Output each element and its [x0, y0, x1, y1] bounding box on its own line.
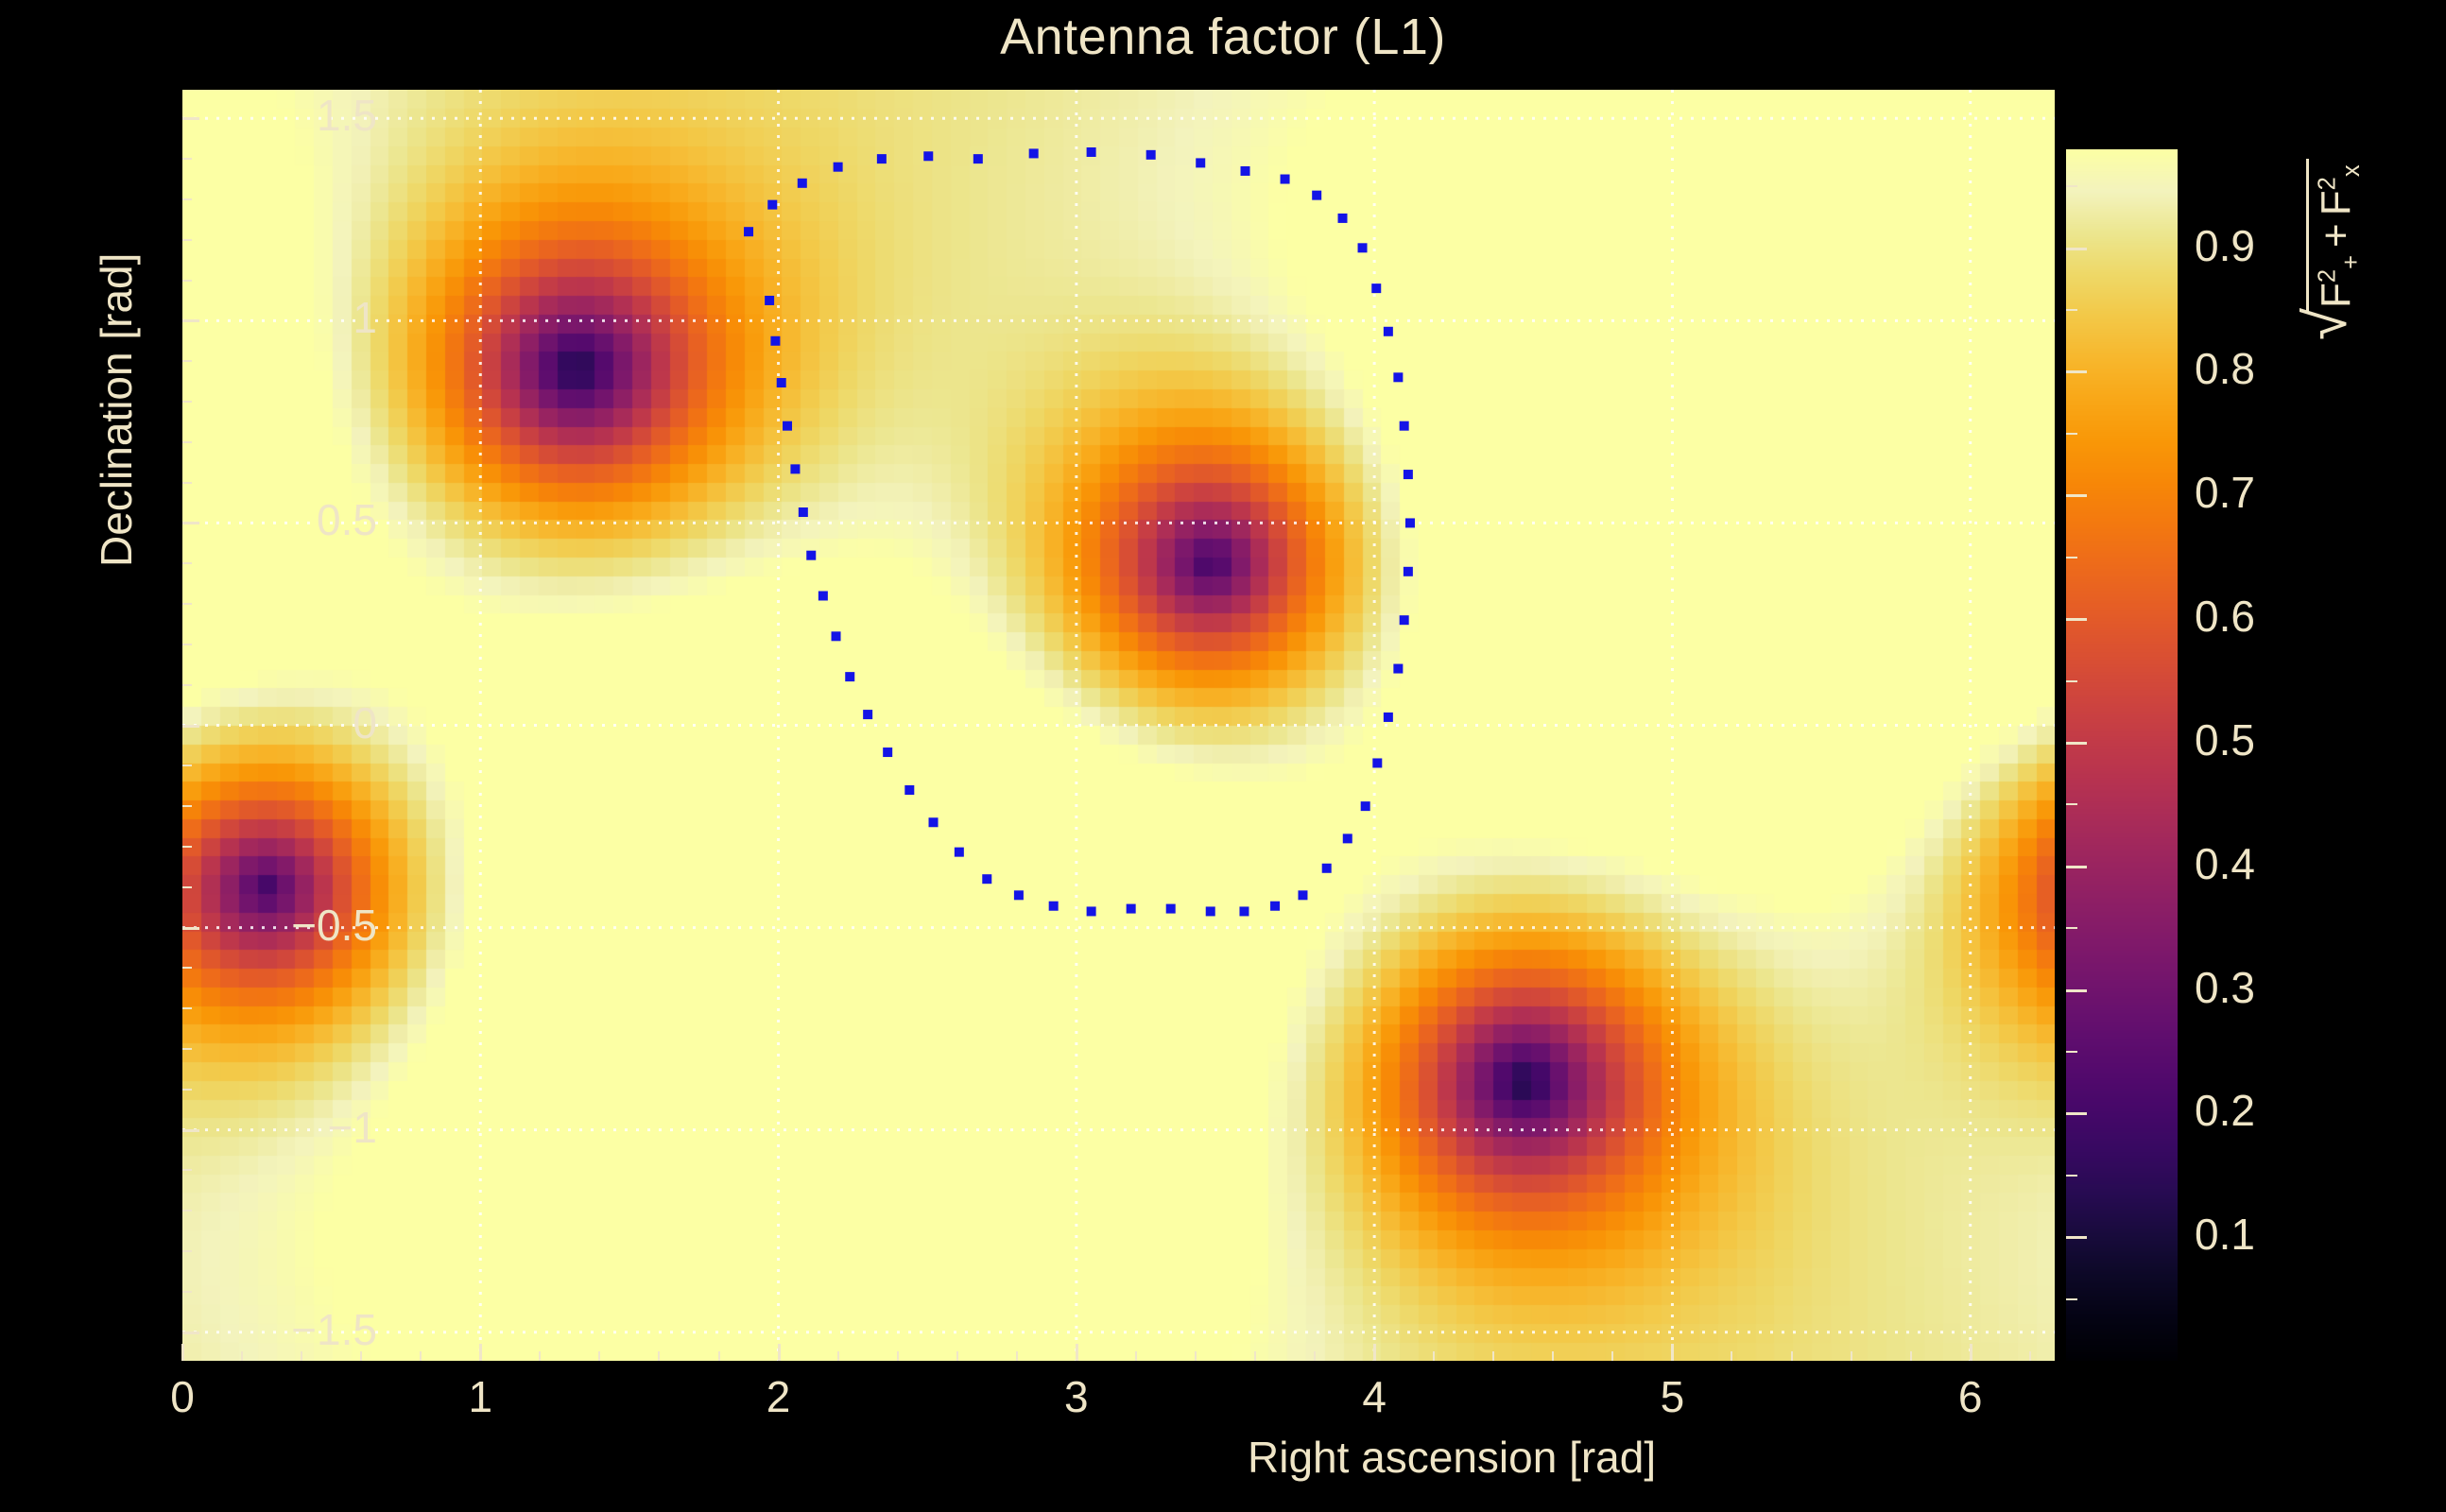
marker-point — [1298, 890, 1307, 900]
color-bar-tick-label: 0.5 — [2195, 718, 2255, 762]
color-bar-minor-tick — [2066, 1051, 2077, 1053]
y-axis-minor-tick — [182, 562, 192, 564]
f-cross-symbol: F — [2313, 190, 2359, 215]
y-axis-minor-tick — [182, 644, 192, 645]
color-bar-tick-label: 0.7 — [2195, 471, 2255, 514]
color-bar-tick — [2066, 248, 2087, 250]
marker-point — [1372, 758, 1382, 767]
y-axis-tick-label: −1 — [328, 1106, 377, 1149]
color-bar-tick — [2066, 742, 2087, 745]
color-bar-minor-tick — [2066, 1298, 2077, 1300]
marker-point — [1384, 713, 1393, 722]
x-axis-tick-label: 5 — [1606, 1375, 1738, 1418]
marker-point — [982, 874, 991, 884]
color-bar-tick-label: 0.9 — [2195, 224, 2255, 267]
y-axis-tick-label: −1.5 — [291, 1308, 377, 1351]
x-axis-minor-tick — [1254, 1351, 1256, 1361]
y-axis-minor-tick — [182, 482, 192, 484]
color-bar-tick-label: 0.2 — [2195, 1089, 2255, 1132]
marker-point — [1384, 327, 1393, 336]
color-bar-tick — [2066, 1236, 2087, 1239]
y-axis-tick-label: 1.5 — [317, 94, 377, 137]
plus-operator: + — [2313, 215, 2360, 255]
marker-point — [777, 378, 786, 387]
x-axis-minor-tick — [837, 1351, 839, 1361]
color-bar-tick-label: 0.1 — [2195, 1212, 2255, 1256]
f-plus-symbol: F — [2313, 283, 2359, 308]
y-axis-tick-label: 1 — [353, 296, 377, 339]
color-bar-minor-tick — [2066, 803, 2077, 805]
marker-point — [973, 154, 983, 163]
radical-sign: √ — [2303, 308, 2357, 340]
y-axis-minor-tick — [182, 1089, 192, 1091]
y-axis-minor-tick — [182, 603, 192, 605]
color-bar-minor-tick — [2066, 185, 2077, 187]
x-axis-tick-label: 6 — [1904, 1375, 2037, 1418]
y-axis-minor-tick — [182, 1007, 192, 1009]
x-axis-tick — [1970, 1344, 1972, 1361]
marker-point — [929, 817, 939, 827]
marker-point — [904, 785, 914, 795]
color-bar-tick-label: 0.8 — [2195, 347, 2255, 390]
x-axis-minor-tick — [1552, 1351, 1554, 1361]
y-axis-minor-tick — [182, 1210, 192, 1211]
x-axis-tick — [479, 1344, 482, 1361]
marker-point — [1029, 148, 1039, 158]
marker-point — [1358, 243, 1368, 252]
plot-canvas-root: Antenna factor (L1) 1.510.50−0.5−1−1.501… — [0, 0, 2446, 1512]
color-bar-minor-tick — [2066, 1175, 2077, 1177]
x-axis-minor-tick — [241, 1351, 243, 1361]
color-bar-tick — [2066, 370, 2087, 373]
color-bar[interactable] — [2066, 149, 2178, 1361]
x-axis-tick — [1076, 1344, 1078, 1361]
x-axis-tick-label: 4 — [1308, 1375, 1440, 1418]
marker-point — [798, 179, 807, 188]
color-bar-tick — [2066, 494, 2087, 497]
y-axis-minor-tick — [182, 198, 192, 200]
y-axis-tick — [182, 1129, 199, 1132]
y-axis-minor-tick — [182, 360, 192, 362]
x-axis-minor-tick — [1016, 1351, 1018, 1361]
marker-point — [1400, 421, 1409, 431]
marker-point — [770, 336, 780, 346]
marker-point — [1014, 890, 1024, 900]
color-bar-tick — [2066, 618, 2087, 621]
marker-point — [1166, 904, 1176, 914]
marker-point — [1393, 372, 1403, 382]
y-axis-minor-tick — [182, 1169, 192, 1171]
color-bar-minor-tick — [2066, 309, 2077, 311]
marker-point — [1127, 904, 1136, 914]
marker-point — [883, 747, 892, 757]
marker-point — [744, 227, 753, 236]
x-axis-minor-tick — [897, 1351, 899, 1361]
x-axis-tick-label: 0 — [116, 1375, 249, 1418]
x-axis-tick — [1671, 1344, 1674, 1361]
marker-point — [806, 551, 816, 560]
x-axis-minor-tick — [1135, 1351, 1137, 1361]
marker-point — [818, 591, 828, 600]
y-axis-tick — [182, 725, 199, 728]
marker-point — [834, 163, 843, 172]
y-axis-minor-tick — [182, 1048, 192, 1050]
marker-point — [783, 421, 792, 431]
marker-point — [832, 631, 841, 641]
x-axis-minor-tick — [1731, 1351, 1732, 1361]
y-axis-minor-tick — [182, 1250, 192, 1252]
y-axis-tick-label: 0 — [353, 701, 377, 745]
marker-point — [1371, 283, 1381, 293]
color-bar-tick-label: 0.6 — [2195, 594, 2255, 638]
overlay-marker-points — [182, 90, 2055, 1361]
marker-point — [863, 710, 872, 719]
marker-point — [1338, 214, 1348, 223]
color-bar-gradient — [2066, 149, 2178, 1361]
f-plus-term: F2+ — [2313, 255, 2360, 308]
y-axis-minor-tick — [182, 684, 192, 686]
color-bar-tick-label: 0.3 — [2195, 966, 2255, 1009]
marker-point — [1049, 902, 1059, 911]
color-bar-minor-tick — [2066, 557, 2077, 558]
x-axis-minor-tick — [1851, 1351, 1852, 1361]
marker-point — [1270, 902, 1280, 911]
color-bar-minor-tick — [2066, 433, 2077, 435]
y-axis-title: Declination [rad] — [91, 253, 142, 567]
y-axis-minor-tick — [182, 441, 192, 443]
x-axis-minor-tick — [1910, 1351, 1912, 1361]
x-axis-tick-label: 3 — [1010, 1375, 1143, 1418]
marker-point — [799, 507, 808, 517]
marker-point — [845, 672, 854, 681]
y-axis-minor-tick — [182, 280, 192, 282]
page-title: Antenna factor (L1) — [0, 8, 2446, 66]
y-axis-tick — [182, 117, 199, 120]
color-bar-minor-tick — [2066, 927, 2077, 929]
x-axis-minor-tick — [1791, 1351, 1793, 1361]
x-axis-minor-tick — [1195, 1351, 1197, 1361]
marker-point — [1312, 191, 1321, 200]
x-axis-minor-tick — [1492, 1351, 1494, 1361]
x-axis-minor-tick — [956, 1351, 958, 1361]
y-axis-minor-tick — [182, 401, 192, 403]
marker-point — [1087, 906, 1096, 916]
x-axis-minor-tick — [301, 1351, 302, 1361]
x-axis-minor-tick — [420, 1351, 422, 1361]
marker-point — [1404, 470, 1413, 479]
y-axis-minor-tick — [182, 158, 192, 160]
y-axis-tick-label: 0.5 — [317, 498, 377, 541]
y-axis-minor-tick — [182, 765, 192, 766]
marker-point — [1405, 518, 1415, 527]
x-axis-minor-tick — [360, 1351, 362, 1361]
x-axis-minor-tick — [1611, 1351, 1613, 1361]
sqrt-icon: √ F2+ + F2x — [2306, 159, 2360, 340]
y-axis-minor-tick — [182, 239, 192, 241]
marker-point — [1343, 833, 1352, 843]
marker-point — [1087, 147, 1096, 157]
x-axis-minor-tick — [1433, 1351, 1435, 1361]
y-axis-tick-label: −0.5 — [291, 903, 377, 947]
x-axis-tick-label: 1 — [414, 1375, 546, 1418]
y-axis-tick — [182, 1332, 199, 1334]
x-axis-tick — [181, 1344, 184, 1361]
color-bar-tick — [2066, 989, 2087, 992]
y-axis-tick — [182, 319, 199, 322]
marker-point — [1361, 801, 1370, 811]
y-axis-tick — [182, 927, 199, 930]
color-bar-tick — [2066, 1112, 2087, 1115]
x-axis-tick — [778, 1344, 781, 1361]
marker-point — [1281, 175, 1290, 184]
x-axis-minor-tick — [1314, 1351, 1316, 1361]
z-axis-title: √ F2+ + F2x — [2306, 159, 2360, 340]
plot-area[interactable] — [182, 90, 2055, 1361]
marker-point — [1400, 615, 1409, 625]
marker-point — [790, 464, 800, 473]
y-axis-minor-tick — [182, 886, 192, 888]
f-cross-subscript: x — [2338, 164, 2365, 177]
f-cross-exponent: 2 — [2314, 177, 2340, 190]
x-axis-title: Right ascension [rad] — [1248, 1432, 1656, 1483]
y-axis-minor-tick — [182, 967, 192, 969]
y-axis-tick — [182, 522, 199, 524]
marker-point — [767, 200, 777, 210]
marker-point — [1206, 906, 1215, 916]
f-plus-subscript: + — [2338, 255, 2365, 269]
x-axis-minor-tick — [539, 1351, 541, 1361]
f-cross-term: F2x — [2313, 164, 2360, 215]
color-bar-tick — [2066, 866, 2087, 868]
color-bar-tick-label: 0.4 — [2195, 842, 2255, 885]
x-axis-minor-tick — [598, 1351, 600, 1361]
x-axis-minor-tick — [718, 1351, 720, 1361]
marker-point — [923, 151, 933, 161]
marker-point — [1241, 166, 1250, 176]
radical-body: F2+ + F2x — [2306, 159, 2360, 312]
marker-point — [765, 296, 774, 305]
x-axis-minor-tick — [2029, 1351, 2031, 1361]
y-axis-minor-tick — [182, 805, 192, 807]
marker-point — [955, 848, 964, 857]
y-axis-minor-tick — [182, 846, 192, 848]
x-axis-minor-tick — [658, 1351, 660, 1361]
marker-point — [1393, 664, 1403, 674]
marker-point — [1196, 158, 1205, 167]
x-axis-tick-label: 2 — [713, 1375, 845, 1418]
x-axis-tick — [1373, 1344, 1376, 1361]
y-axis-minor-tick — [182, 1291, 192, 1293]
color-bar-minor-tick — [2066, 680, 2077, 682]
marker-point — [1239, 906, 1249, 916]
marker-point — [1322, 864, 1332, 873]
marker-point — [1146, 150, 1156, 160]
marker-point — [1404, 567, 1413, 576]
f-plus-exponent: 2 — [2314, 269, 2340, 283]
marker-point — [877, 154, 887, 163]
